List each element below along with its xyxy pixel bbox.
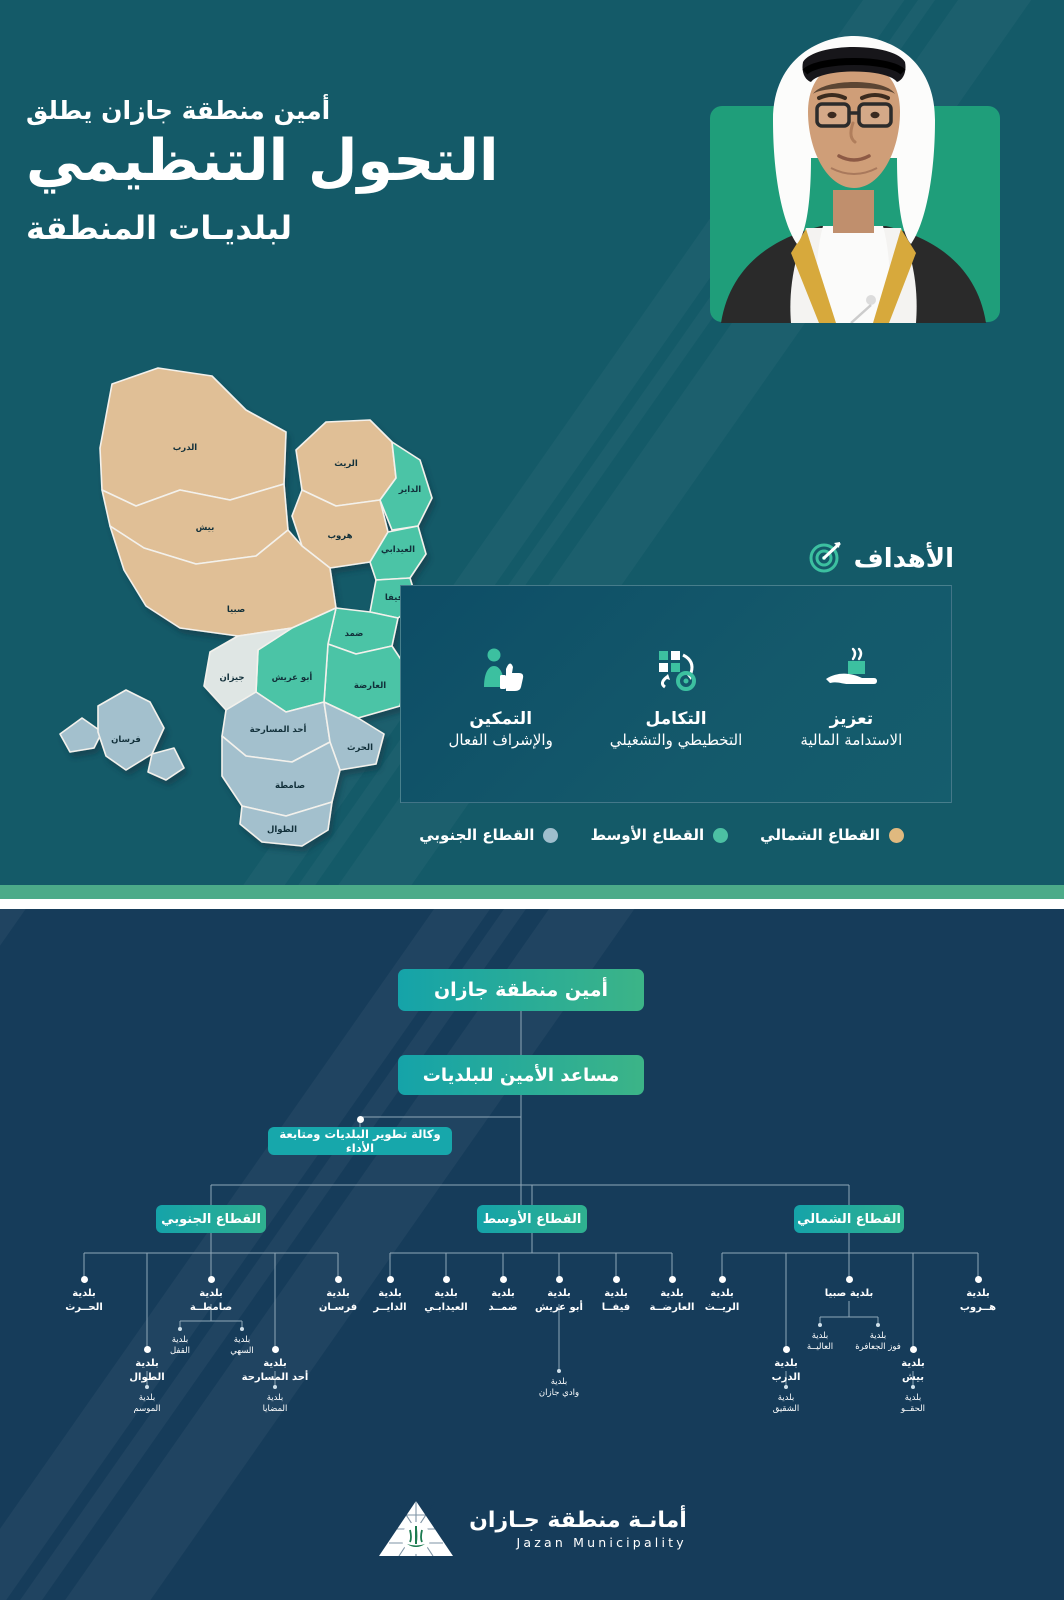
org-leaf-bish[interactable]: بلديةبيش <box>874 1357 952 1384</box>
map-label-alrayth: الريث <box>334 459 358 469</box>
node-dot <box>240 1327 244 1331</box>
goals-panel: تعزيز الاستدامة المالية <box>400 585 952 803</box>
pretitle: أمين منطقة جازان يطلق <box>26 96 716 125</box>
map-legend: القطاع الشمالي القطاع الأوسط القطاع الجن… <box>419 826 904 844</box>
footer-arabic: أمانـة منطقة جـازان <box>469 1508 687 1533</box>
integration-icon <box>601 639 751 701</box>
goal-title: تعزيز <box>776 709 926 729</box>
node-dot <box>144 1346 151 1353</box>
map-label-huroob: هروب <box>327 531 352 541</box>
node-dot <box>846 1276 853 1283</box>
infographic-page: أمين منطقة جازان يطلق التحول التنظيمي لب… <box>0 0 1064 1600</box>
org-leaf-ahad-almasarihah[interactable]: بلديةأحد المسارحة <box>236 1357 314 1384</box>
goals-heading-label: الأهداف <box>854 544 954 574</box>
map-label-damad: ضمد <box>345 629 364 639</box>
goal-item-integration: التكامل التخطيطي والتشغيلي <box>601 639 751 749</box>
org-leaf-almadaya[interactable]: بلديةالمضايا <box>243 1393 307 1416</box>
divider-band-white <box>0 899 1064 909</box>
node-dot <box>669 1276 676 1283</box>
map-label-ahad-almasarihah: أحد المسارحة <box>250 723 307 735</box>
node-dot <box>145 1385 149 1389</box>
node-dot <box>81 1276 88 1283</box>
node-dot <box>910 1346 917 1353</box>
node-dot <box>911 1385 915 1389</box>
goal-title: التمكين <box>426 709 576 729</box>
goal-subtitle: التخطيطي والتشغيلي <box>601 731 751 749</box>
legend-label: القطاع الأوسط <box>590 826 704 844</box>
divider-band-green <box>0 885 1064 899</box>
subtitle: لبلديـات المنطقة <box>26 209 716 247</box>
top-section: أمين منطقة جازان يطلق التحول التنظيمي لب… <box>0 0 1064 885</box>
footer: أمانـة منطقة جـازان Jazan Municipality <box>0 1498 1064 1560</box>
node-dot <box>357 1116 364 1123</box>
node-dot <box>556 1276 563 1283</box>
map-label-jizan: جيزان <box>219 673 244 683</box>
goal-subtitle: والإشراف الفعال <box>426 731 576 749</box>
portrait-photo <box>711 28 996 323</box>
org-leaf-wadi-jazan[interactable]: بلديةوادي جازان <box>527 1377 591 1400</box>
org-box-sector-south[interactable]: القطاع الجنوبي <box>156 1205 266 1233</box>
goal-subtitle: الاستدامة المالية <box>776 731 926 749</box>
org-box-agency[interactable]: وكالة تطوير البلديات ومتابعة الأداء <box>268 1127 452 1155</box>
org-leaf-alhaqw[interactable]: بلديةالحقــو <box>881 1393 945 1416</box>
map-label-altuwal: الطوال <box>267 825 297 835</box>
map-label-aldarb: الدرب <box>173 443 198 453</box>
org-connectors <box>0 909 1064 1600</box>
goal-item-finance: تعزيز الاستدامة المالية <box>776 639 926 749</box>
map-label-alharth: الحرث <box>347 743 373 753</box>
org-box-sector-north[interactable]: القطاع الشمالي <box>794 1205 904 1233</box>
finance-icon <box>776 639 926 701</box>
node-dot <box>273 1385 277 1389</box>
node-dot <box>500 1276 507 1283</box>
map-label-bish: بيش <box>196 523 215 533</box>
map-label-alaidabi: العيدابي <box>381 545 415 555</box>
node-dot <box>443 1276 450 1283</box>
empowerment-icon <box>426 639 576 701</box>
org-leaf-alharth[interactable]: بلديةالحــرث <box>45 1287 123 1314</box>
org-leaf-almawsim[interactable]: بلديةالموسم <box>115 1393 179 1416</box>
footer-english: Jazan Municipality <box>469 1535 687 1550</box>
map-label-alaridah: العارضة <box>354 681 386 691</box>
node-dot <box>272 1346 279 1353</box>
page-title: التحول التنظيمي <box>26 129 716 195</box>
legend-dot-middle <box>713 828 728 843</box>
node-dot <box>557 1369 561 1373</box>
node-dot <box>876 1323 880 1327</box>
map-label-farasan: فرسان <box>111 735 141 745</box>
target-icon <box>808 540 842 578</box>
bottom-section: أمين منطقة جازان مساعد الأمين للبلديات و… <box>0 909 1064 1600</box>
map-label-aldayer: الداير <box>398 485 421 495</box>
node-dot <box>208 1276 215 1283</box>
legend-item-middle: القطاع الأوسط <box>590 826 728 844</box>
footer-text: أمانـة منطقة جـازان Jazan Municipality <box>469 1508 687 1550</box>
org-leaf-alrayth[interactable]: بلديةالريــث <box>683 1287 761 1314</box>
org-leaf-alsahi[interactable]: بلديةالسهي <box>210 1335 274 1358</box>
legend-item-north: القطاع الشمالي <box>760 826 904 844</box>
legend-label: القطاع الشمالي <box>760 826 880 844</box>
map-label-abu-arish: أبو عريش <box>272 671 313 683</box>
org-leaf-sabya[interactable]: بلدية صبيا <box>810 1287 888 1301</box>
node-dot <box>178 1327 182 1331</box>
jazan-region-map: الدرب الريث بيش هروب صبيا الداير العيداب… <box>40 350 460 860</box>
org-chart: أمين منطقة جازان مساعد الأمين للبلديات و… <box>0 909 1064 1600</box>
org-leaf-altuwal[interactable]: بلديةالطوال <box>108 1357 186 1384</box>
org-leaf-alqafl[interactable]: بلديةالقفل <box>148 1335 212 1358</box>
org-leaf-fawz-aljaafirah[interactable]: بلديةفوز الجعافرة <box>846 1331 910 1354</box>
org-leaf-alaliyah[interactable]: بلديةالعاليــة <box>788 1331 852 1354</box>
node-dot <box>783 1346 790 1353</box>
node-dot <box>719 1276 726 1283</box>
goal-item-empowerment: التمكين والإشراف الفعال <box>426 639 576 749</box>
org-box-sector-middle[interactable]: القطاع الأوسط <box>477 1205 587 1233</box>
map-label-sabya: صبيا <box>227 605 245 615</box>
legend-dot-south <box>543 828 558 843</box>
node-dot <box>613 1276 620 1283</box>
org-leaf-alshuqayq[interactable]: بلديةالشقيق <box>754 1393 818 1416</box>
legend-dot-north <box>889 828 904 843</box>
org-box-amin[interactable]: أمين منطقة جازان <box>398 969 644 1011</box>
node-dot <box>335 1276 342 1283</box>
org-leaf-huroob[interactable]: بلديةهــروب <box>939 1287 1017 1314</box>
legend-label: القطاع الجنوبي <box>419 826 534 844</box>
node-dot <box>975 1276 982 1283</box>
title-block: أمين منطقة جازان يطلق التحول التنظيمي لب… <box>26 96 716 247</box>
jazan-municipality-logo <box>377 1498 455 1560</box>
org-box-assistant[interactable]: مساعد الأمين للبلديات <box>398 1055 644 1095</box>
goal-title: التكامل <box>601 709 751 729</box>
node-dot <box>784 1385 788 1389</box>
goals-heading: الأهداف <box>808 540 954 578</box>
map-label-samtah: صامطة <box>275 781 305 791</box>
org-leaf-aldarb[interactable]: بلديةالدرب <box>747 1357 825 1384</box>
legend-item-south: القطاع الجنوبي <box>419 826 558 844</box>
node-dot <box>818 1323 822 1327</box>
node-dot <box>387 1276 394 1283</box>
org-leaf-samtah[interactable]: بلديةصامطــة <box>172 1287 250 1314</box>
